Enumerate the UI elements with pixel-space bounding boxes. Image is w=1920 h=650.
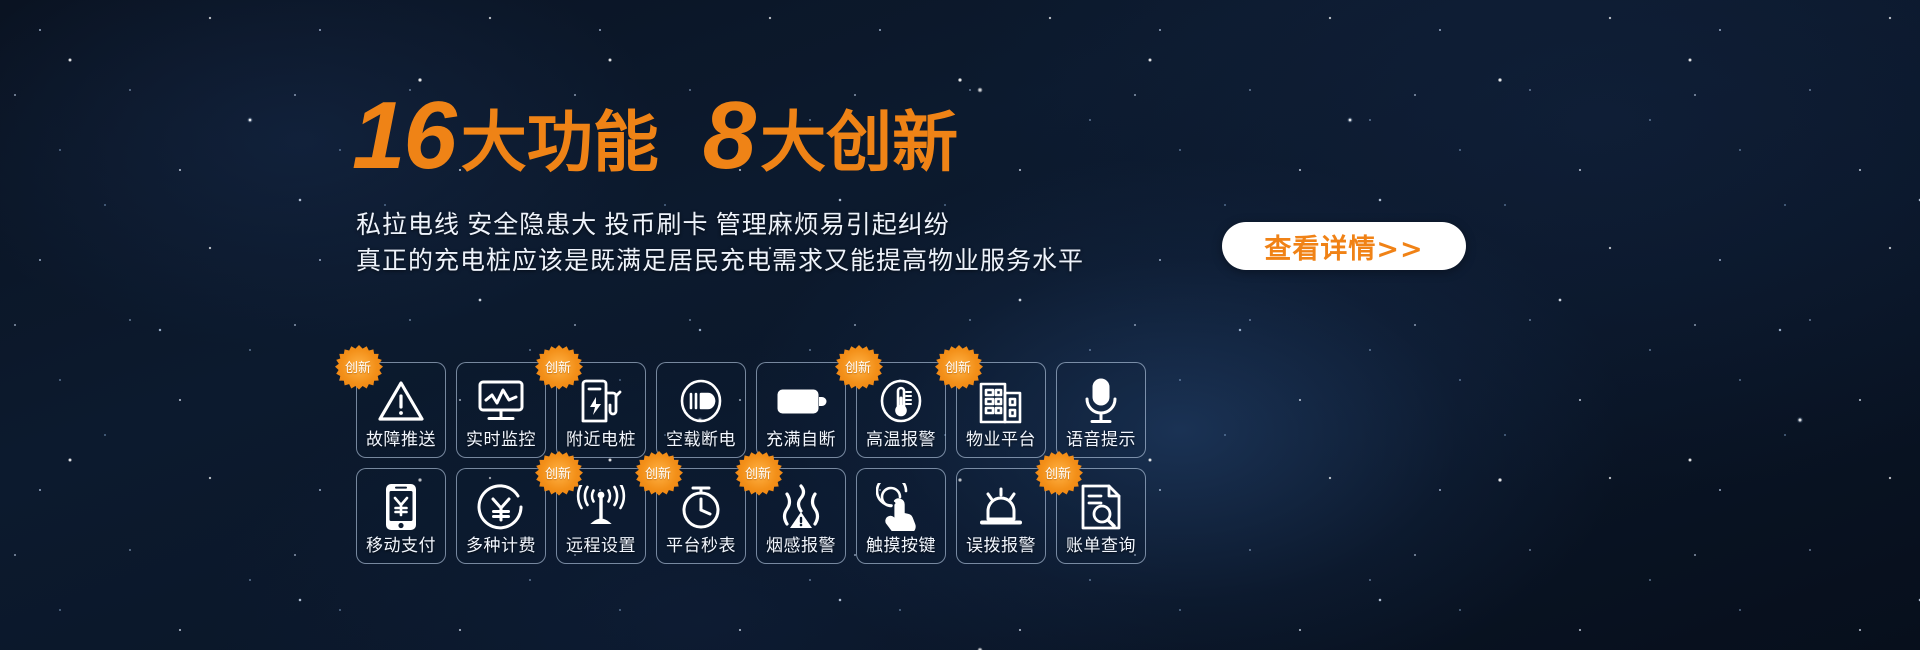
headline-number-16: 16 (352, 92, 455, 180)
feature-tile-misdial-alarm[interactable]: 误拨报警 (956, 468, 1046, 564)
view-details-button[interactable]: 查看详情>> (1222, 222, 1466, 270)
feature-label: 移动支付 (366, 537, 436, 563)
feature-label: 实时监控 (466, 431, 536, 457)
feature-tile-high-temp-alarm[interactable]: 创新 高温报警 (856, 362, 946, 458)
feature-tile-remote-setting[interactable]: 创新 远程设置 (556, 468, 646, 564)
feature-label: 远程设置 (566, 537, 636, 563)
innovation-badge: 创新 (835, 345, 883, 393)
feature-label: 高温报警 (866, 431, 936, 457)
subtitle-line-2: 真正的充电桩应该是既满足居民充电需求又能提高物业服务水平 (356, 244, 1084, 280)
mobile-yuan-icon (357, 477, 445, 537)
feature-label: 触摸按键 (866, 537, 936, 563)
headline-number-8: 8 (703, 92, 754, 180)
feature-label: 物业平台 (966, 431, 1036, 457)
alarm-bell-icon (957, 477, 1045, 537)
headline-text-functions: 大功能 (455, 110, 659, 180)
monitor-waveform-icon (457, 371, 545, 431)
innovation-badge: 创新 (735, 451, 783, 499)
innovation-badge-label: 创新 (1045, 463, 1071, 482)
feature-label: 误拨报警 (966, 537, 1036, 563)
feature-tile-mobile-payment[interactable]: 移动支付 (356, 468, 446, 564)
innovation-badge: 创新 (935, 345, 983, 393)
innovation-badge: 创新 (635, 451, 683, 499)
feature-tile-smoke-alarm[interactable]: 创新 烟感报警 (756, 468, 846, 564)
battery-full-icon (757, 371, 845, 431)
innovation-badge-label: 创新 (345, 357, 371, 376)
feature-tile-realtime-monitor[interactable]: 实时监控 (456, 362, 546, 458)
innovation-badge-label: 创新 (845, 357, 871, 376)
innovation-badge-label: 创新 (745, 463, 771, 482)
feature-tile-property-platform[interactable]: 创新 物业平台 (956, 362, 1046, 458)
subtitle-block: 私拉电线 安全隐患大 投币刷卡 管理麻烦易引起纠纷 真正的充电桩应该是既满足居民… (356, 208, 1084, 279)
yuan-circle-icon (457, 477, 545, 537)
feature-tile-platform-stopwatch[interactable]: 创新 平台秒表 (656, 468, 746, 564)
feature-tile-auto-cutoff-full[interactable]: 充满自断 (756, 362, 846, 458)
feature-label: 烟感报警 (766, 537, 836, 563)
subtitle-line-1: 私拉电线 安全隐患大 投币刷卡 管理麻烦易引起纠纷 (356, 208, 1084, 244)
innovation-badge-label: 创新 (545, 463, 571, 482)
feature-tile-fault-push[interactable]: 创新 故障推送 (356, 362, 446, 458)
innovation-badge: 创新 (535, 451, 583, 499)
plug-circle-icon (657, 371, 745, 431)
feature-row-1: 创新 故障推送 (356, 362, 1146, 458)
innovation-badge-label: 创新 (645, 463, 671, 482)
feature-tile-idle-cutoff[interactable]: 空载断电 (656, 362, 746, 458)
feature-label: 多种计费 (466, 537, 536, 563)
headline: 16 大功能 8 大创新 (352, 92, 958, 180)
feature-tile-touch-key[interactable]: 触摸按键 (856, 468, 946, 564)
feature-label: 账单查询 (1066, 537, 1136, 563)
innovation-badge-label: 创新 (545, 357, 571, 376)
innovation-badge: 创新 (535, 345, 583, 393)
feature-row-2: 移动支付 多种计费 创新 (356, 468, 1146, 564)
touch-hand-icon (857, 477, 945, 537)
feature-grid: 创新 故障推送 (356, 362, 1146, 564)
microphone-icon (1057, 371, 1145, 431)
innovation-badge-label: 创新 (945, 357, 971, 376)
feature-label: 故障推送 (366, 431, 436, 457)
feature-tile-voice-prompt[interactable]: 语音提示 (1056, 362, 1146, 458)
innovation-badge: 创新 (335, 345, 383, 393)
headline-text-innovations: 大创新 (754, 110, 958, 180)
promo-banner: 16 大功能 8 大创新 私拉电线 安全隐患大 投币刷卡 管理麻烦易引起纠纷 真… (0, 0, 1920, 650)
innovation-badge: 创新 (1035, 451, 1083, 499)
feature-tile-bill-query[interactable]: 创新 账单查询 (1056, 468, 1146, 564)
feature-label: 平台秒表 (666, 537, 736, 563)
feature-tile-multiple-billing[interactable]: 多种计费 (456, 468, 546, 564)
feature-tile-nearby-station[interactable]: 创新 附近电桩 (556, 362, 646, 458)
